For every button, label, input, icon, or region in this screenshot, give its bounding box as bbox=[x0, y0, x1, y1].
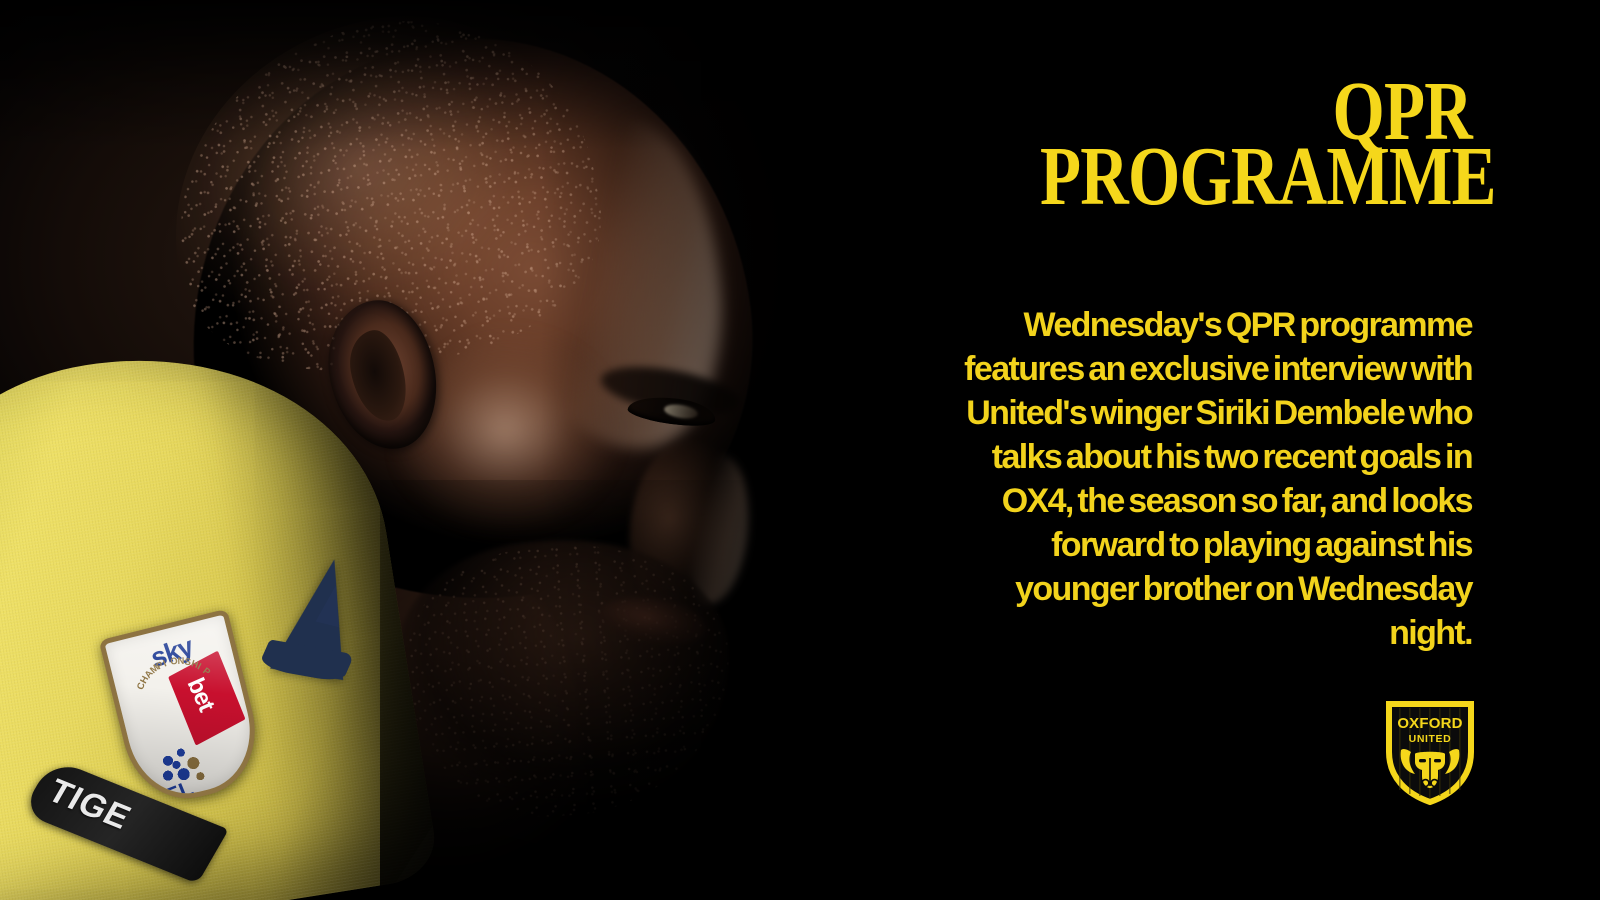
page-title: QPR PROGRAMME bbox=[932, 78, 1472, 210]
headline-line-2: PROGRAMME bbox=[1040, 143, 1472, 210]
sky-wordmark: sky bbox=[147, 631, 197, 674]
championship-arc-text: C H A M P I O N S H I P bbox=[121, 644, 237, 760]
svg-text:UNITED: UNITED bbox=[1409, 733, 1452, 745]
efl-roundel-icon bbox=[144, 731, 217, 804]
player-photo: sky bet C H A M P I O N S H I P EFL TIGE bbox=[0, 0, 960, 900]
bet-wordmark: bet bbox=[181, 674, 220, 716]
content-panel: QPR PROGRAMME Wednesday's QPR programme … bbox=[900, 0, 1600, 900]
blurb-text: Wednesday's QPR programme features an ex… bbox=[952, 303, 1472, 655]
oxford-united-crest-icon: OXFORD UNITED bbox=[1385, 700, 1475, 806]
bet-box bbox=[168, 651, 245, 746]
svg-text:OXFORD: OXFORD bbox=[1397, 715, 1462, 732]
photo-right-fade bbox=[540, 0, 960, 900]
promo-graphic: sky bet C H A M P I O N S H I P EFL TIGE bbox=[0, 0, 1600, 900]
